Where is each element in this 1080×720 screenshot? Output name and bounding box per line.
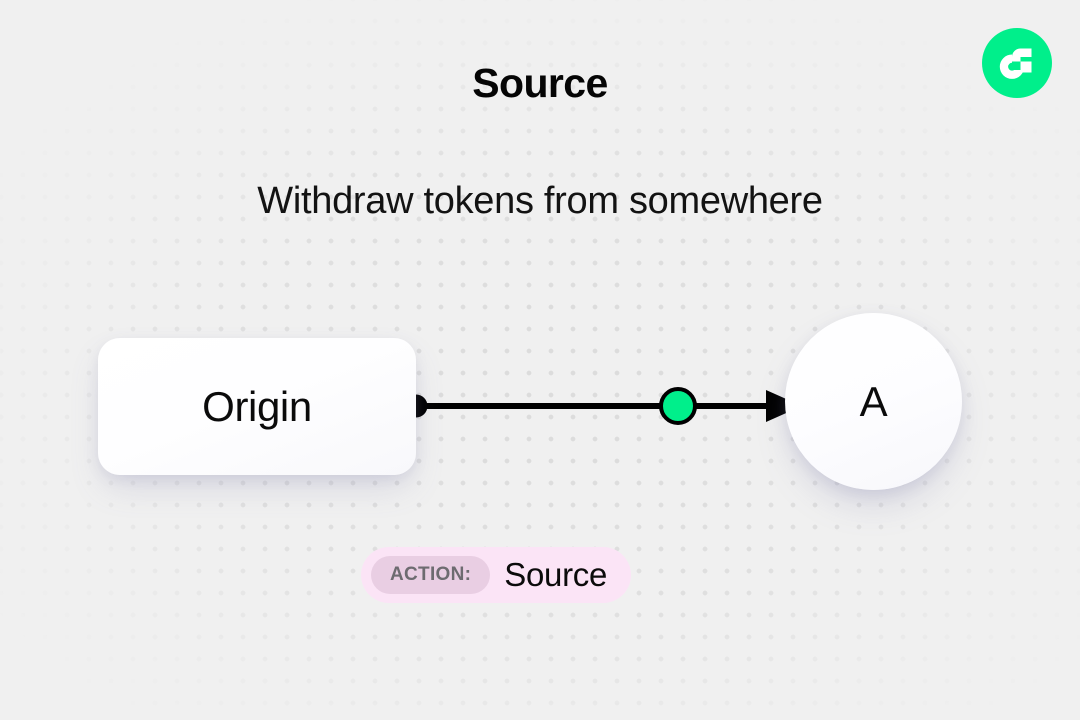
diagram-node-a[interactable]: A xyxy=(785,313,962,490)
flow-diagram: Origin A xyxy=(0,0,1080,720)
action-badge: ACTION: Source xyxy=(361,547,631,603)
action-badge-key: ACTION: xyxy=(371,556,490,594)
diagram-node-a-label: A xyxy=(860,378,888,426)
token-dot-icon xyxy=(661,389,695,423)
diagram-node-origin[interactable]: Origin xyxy=(98,338,416,475)
action-badge-value: Source xyxy=(504,556,607,594)
diagram-node-origin-label: Origin xyxy=(202,383,312,431)
